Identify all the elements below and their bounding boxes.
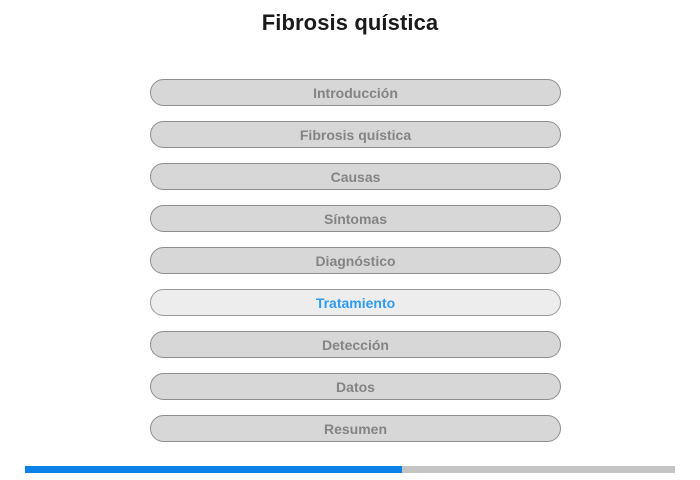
- menu-button-6[interactable]: Detección: [150, 331, 561, 358]
- menu-button-2[interactable]: Causas: [150, 163, 561, 190]
- page-title: Fibrosis quística: [0, 10, 700, 36]
- menu-button-4[interactable]: Diagnóstico: [150, 247, 561, 274]
- menu-button-0[interactable]: Introducción: [150, 79, 561, 106]
- progress-bar-track[interactable]: [25, 466, 675, 473]
- menu-button-5[interactable]: Tratamiento: [150, 289, 561, 316]
- navigation-menu: IntroducciónFibrosis quísticaCausasSínto…: [150, 79, 561, 442]
- menu-button-1[interactable]: Fibrosis quística: [150, 121, 561, 148]
- menu-button-8[interactable]: Resumen: [150, 415, 561, 442]
- menu-button-3[interactable]: Síntomas: [150, 205, 561, 232]
- menu-button-7[interactable]: Datos: [150, 373, 561, 400]
- progress-bar-fill: [25, 466, 402, 473]
